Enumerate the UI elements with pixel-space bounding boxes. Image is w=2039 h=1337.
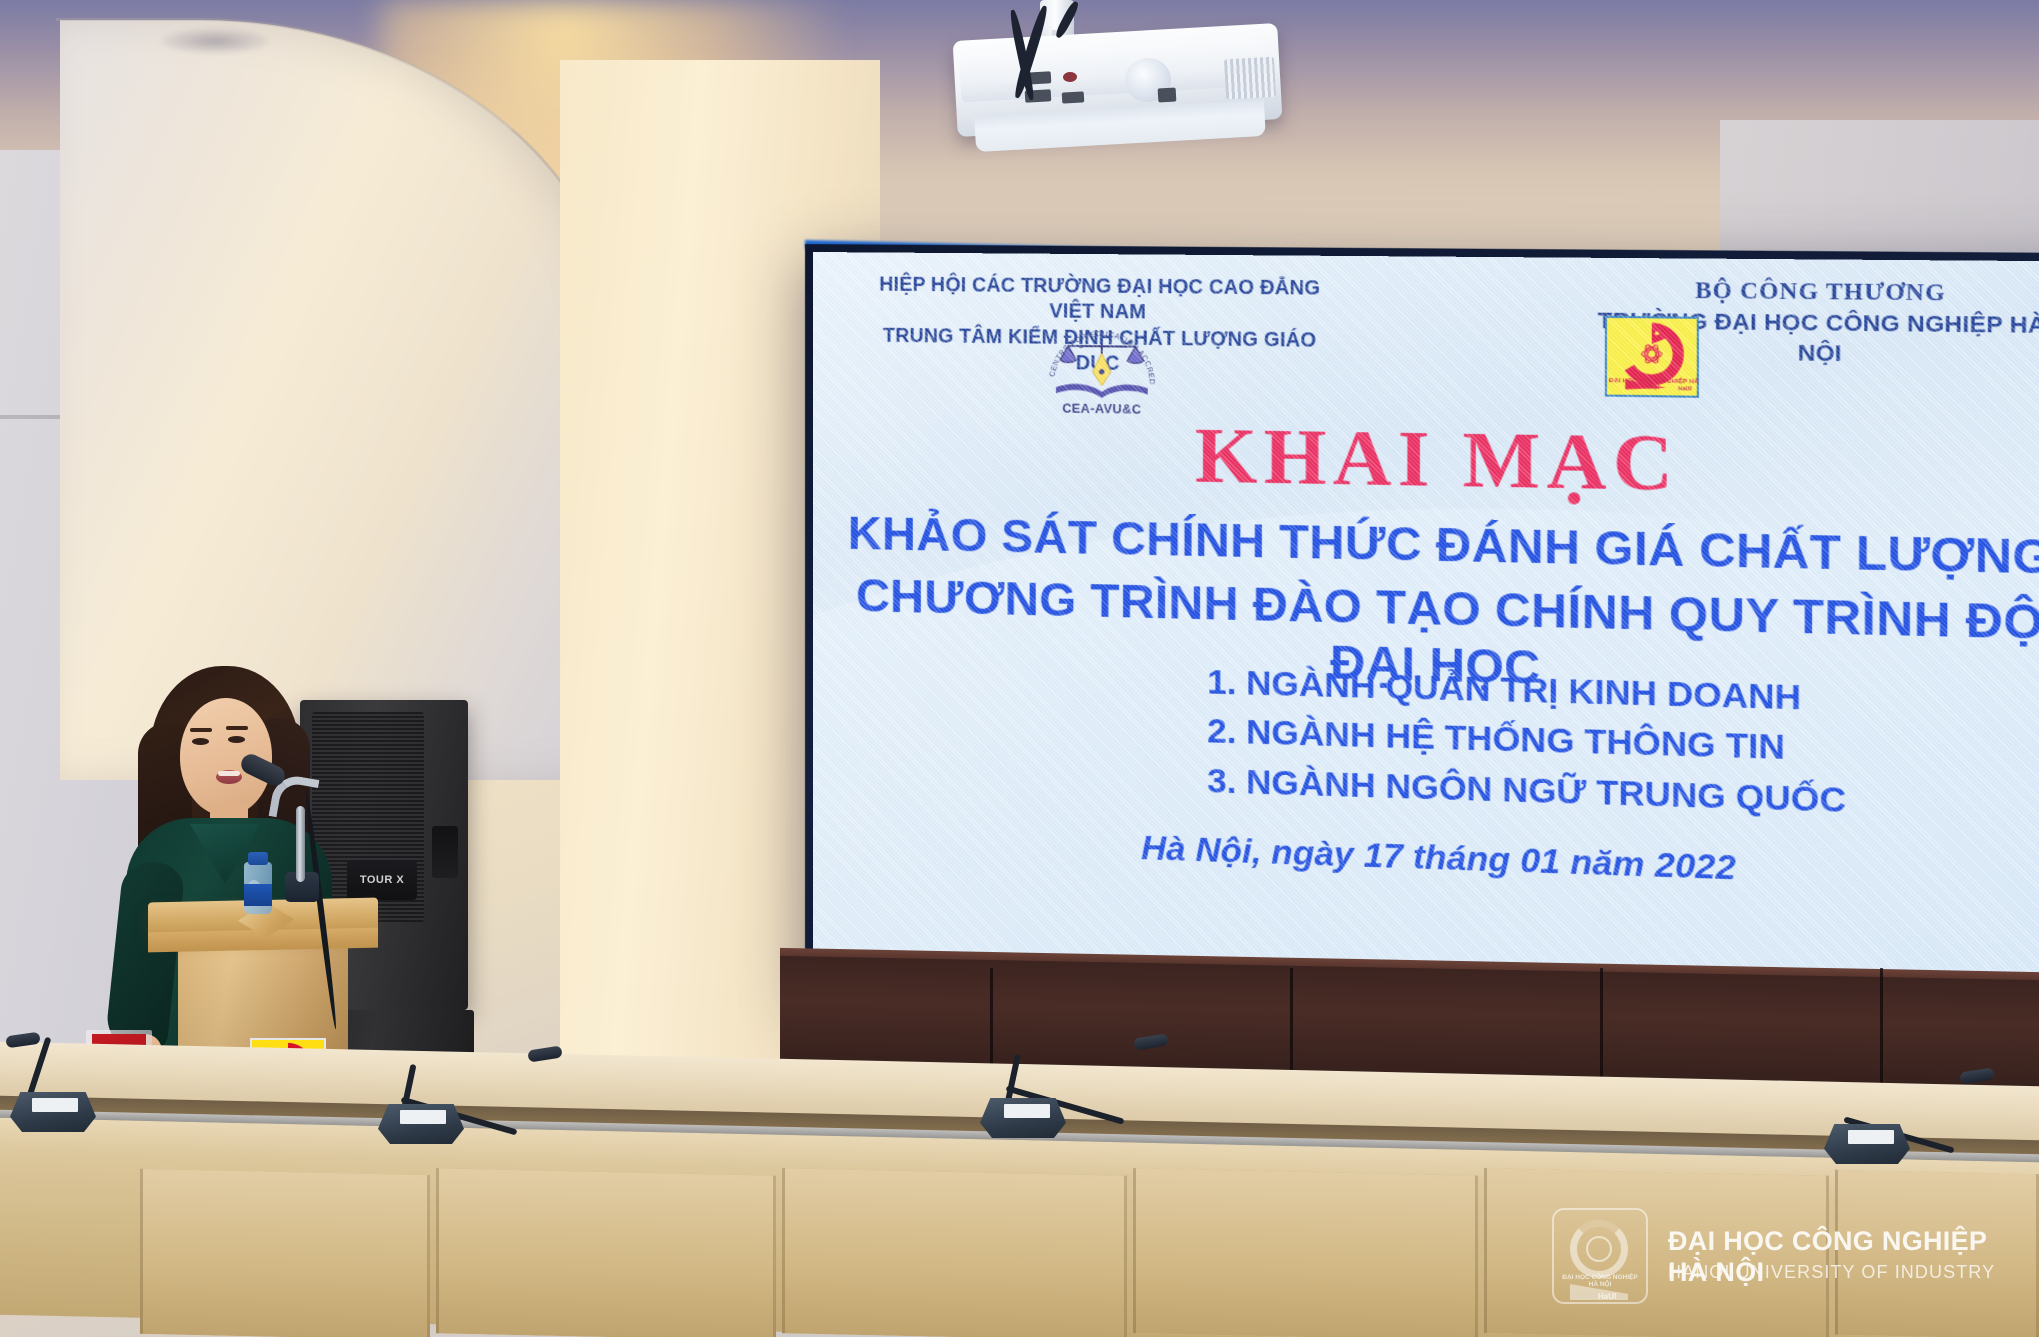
watermark-atom-icon [1586,1236,1612,1262]
speaker-side-handle [432,826,458,878]
table-mic-label [1848,1130,1894,1144]
presentation-slide: HIỆP HỘI CÁC TRƯỜNG ĐẠI HỌC CAO ĐẲNG VIỆ… [813,252,2039,1037]
table-mic-label [1004,1104,1050,1118]
watermark-logo-tag: HaUI [1598,1292,1616,1301]
haui-logo-slide: ĐẠI HỌC CÔNG NGHIỆP HÀ NỘI HaUI [1605,316,1699,398]
person-teeth [218,771,240,776]
conference-hall-photo: HIỆP HỘI CÁC TRƯỜNG ĐẠI HỌC CAO ĐẲNG VIỆ… [0,0,2039,1337]
projector-vent-grille [1224,57,1276,100]
speaker-brand-badge: TOUR X [347,860,417,900]
slide-header-right-line1: BỘ CÔNG THƯƠNG [1573,274,2039,310]
haui-logo-tag: HaUI [1678,386,1691,392]
projector-port-hdmi [1062,91,1085,103]
water-bottle-cap [248,852,268,865]
watermark-title-en: HANOI UNIVERSITY OF INDUSTRY [1668,1262,1995,1283]
person-brow-right [226,726,248,730]
table-front-panel [140,1169,430,1337]
table-mic-label [32,1098,78,1112]
water-bottle-label [244,884,272,906]
projector-port-lan [1158,88,1177,103]
table-front-panel [1133,1168,1478,1337]
watermark: ĐẠI HỌC CÔNG NGHIỆP HÀ NỘI HaUI ĐẠI HỌC … [1552,1208,2012,1312]
table-front-panel [782,1168,1127,1337]
person-eye-right [228,736,245,743]
slide-program-list: 1. NGÀNH QUẢN TRỊ KINH DOANH 2. NGÀNH HỆ… [1207,658,2016,831]
slide-title: KHAI MẠC [813,404,2039,517]
ceiling-vent [160,28,270,54]
table-front-panel [436,1168,776,1337]
person-eye-left [192,738,209,745]
table-mic-label [400,1110,446,1124]
person-brow-left [190,728,212,732]
